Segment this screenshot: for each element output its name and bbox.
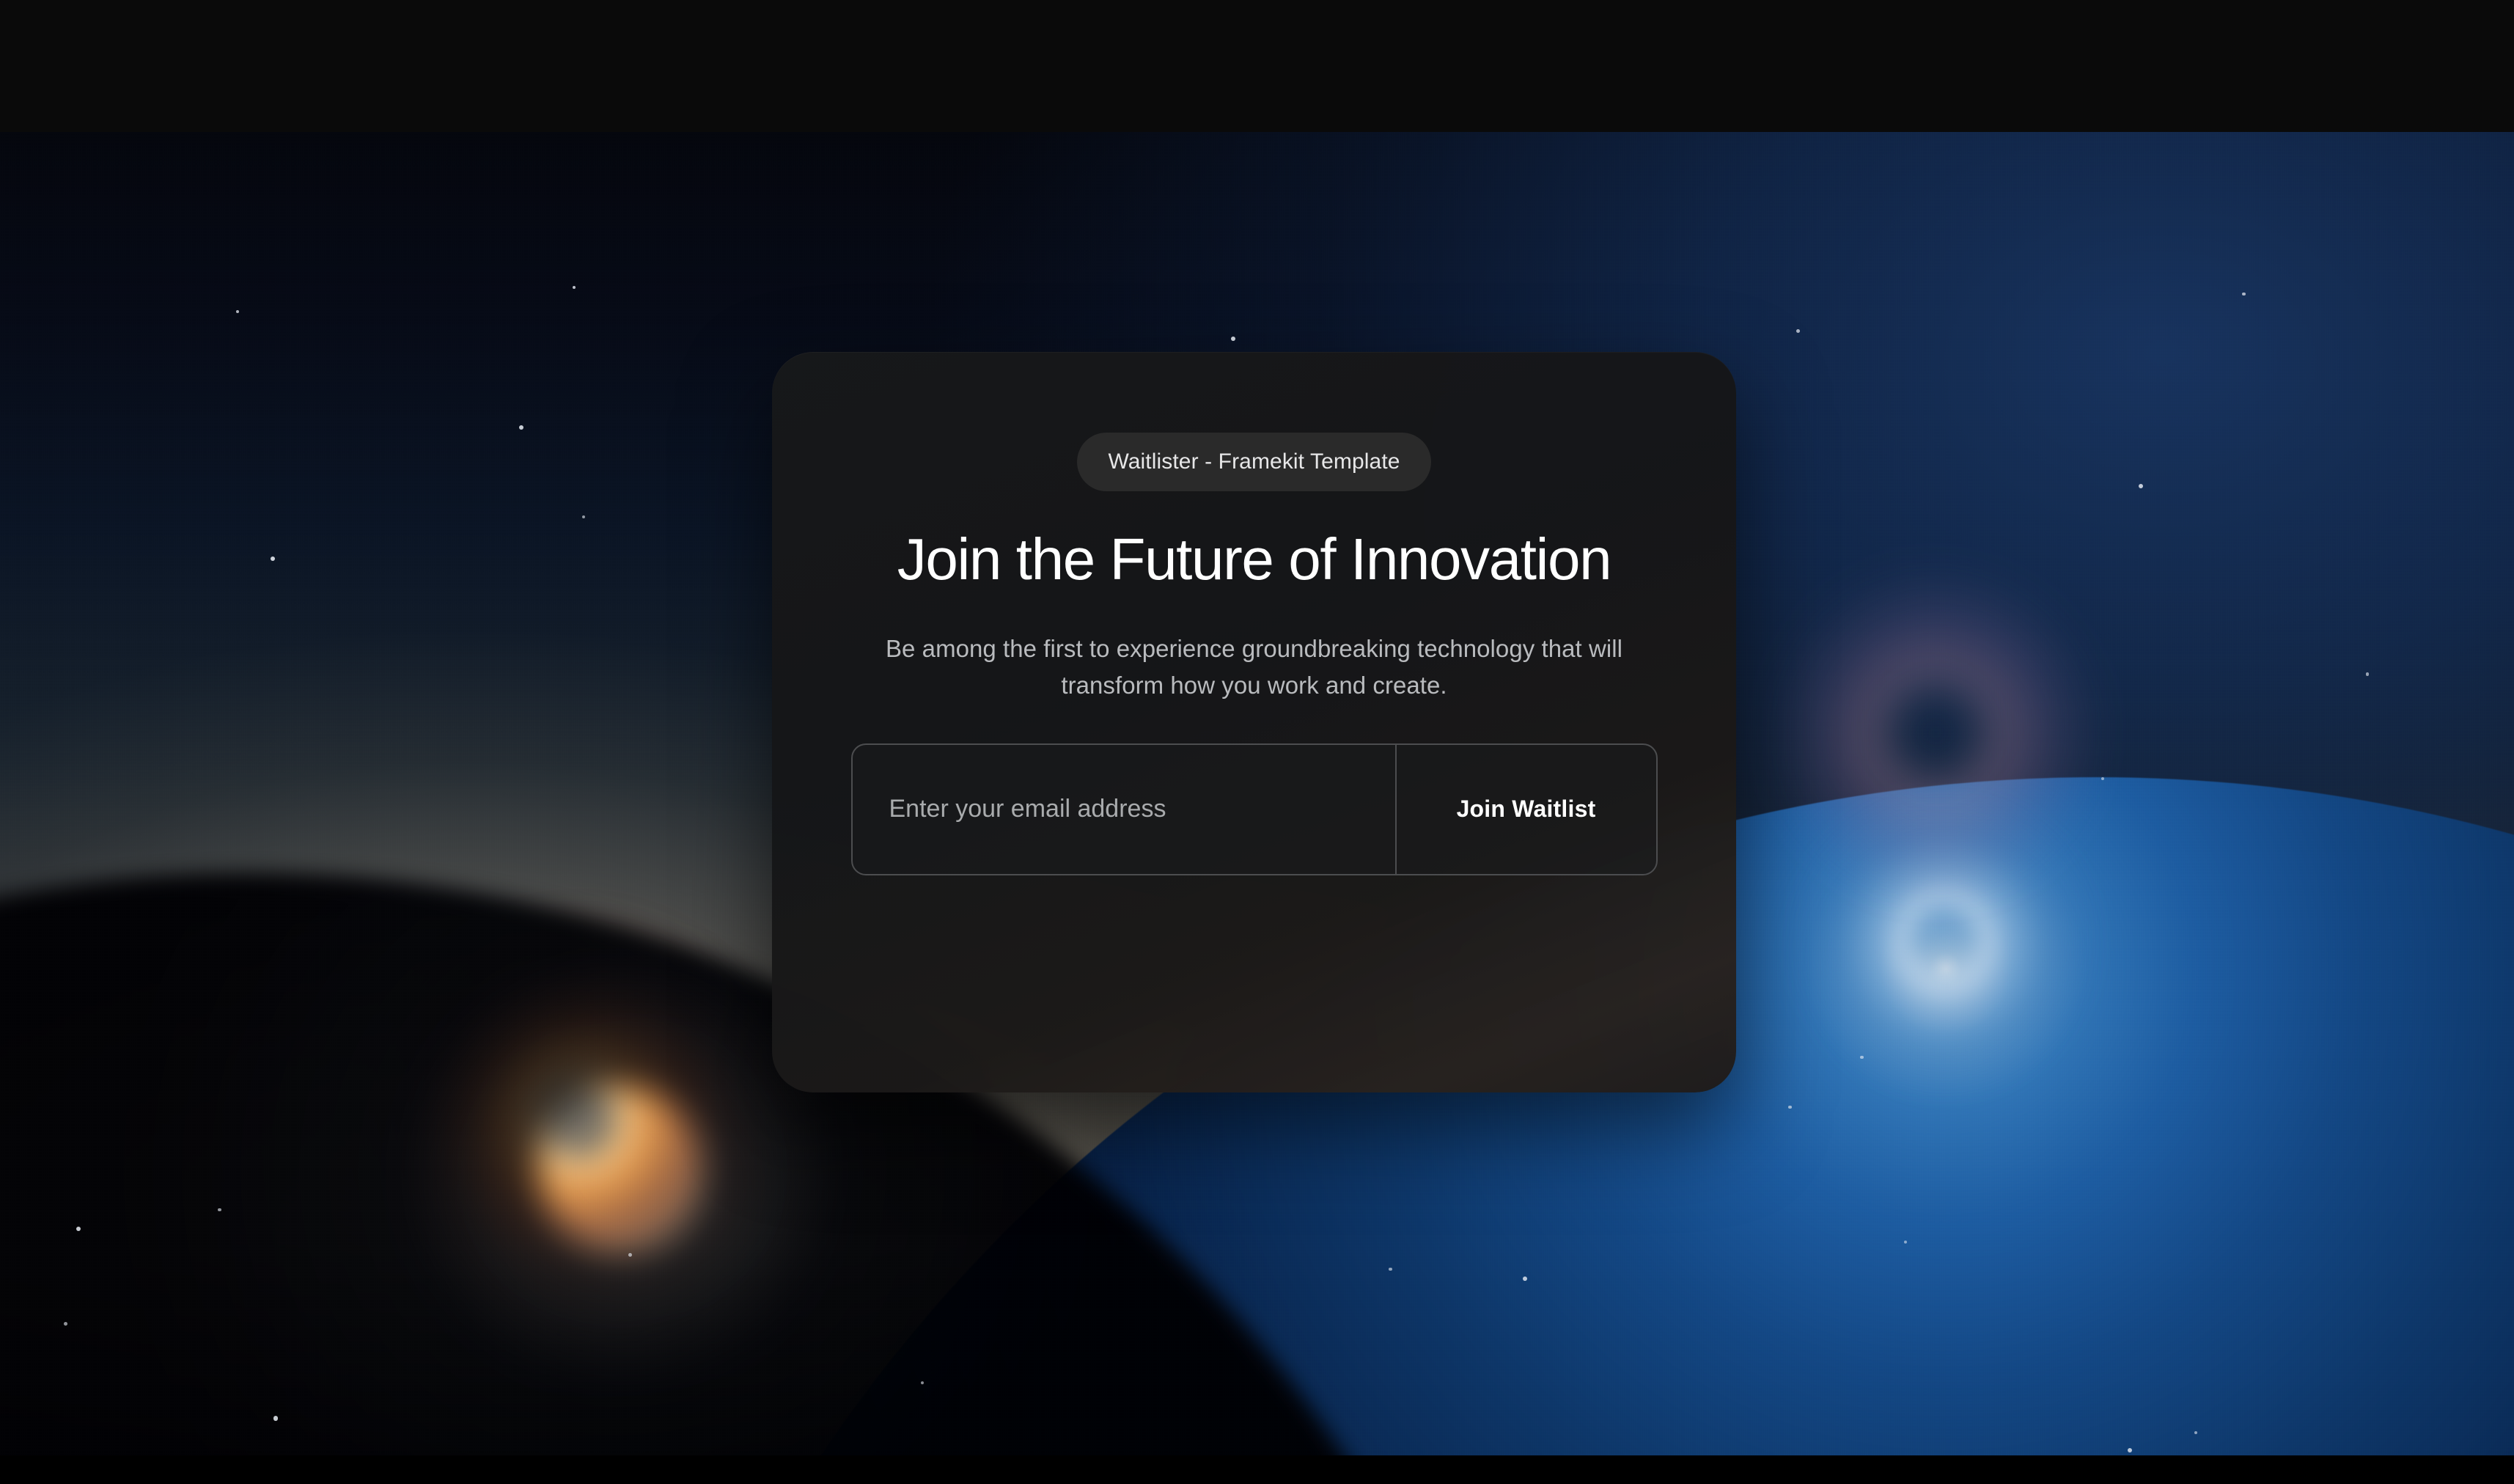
template-badge: Waitlister - Framekit Template: [1077, 433, 1430, 491]
letterbox-bottom-bar: [0, 1455, 2514, 1484]
waitlist-landing-page: Waitlister - Framekit Template Join the …: [0, 0, 2514, 1484]
letterbox-top-bar: [0, 0, 2514, 132]
waitlist-form: Join Waitlist: [851, 743, 1658, 875]
page-subtitle: Be among the first to experience groundb…: [866, 631, 1643, 704]
page-title: Join the Future of Innovation: [844, 525, 1665, 594]
template-badge-label: Waitlister - Framekit Template: [1108, 449, 1400, 474]
join-waitlist-button[interactable]: Join Waitlist: [1395, 745, 1656, 874]
email-input[interactable]: [853, 745, 1395, 874]
waitlist-card: Waitlister - Framekit Template Join the …: [772, 352, 1736, 1092]
